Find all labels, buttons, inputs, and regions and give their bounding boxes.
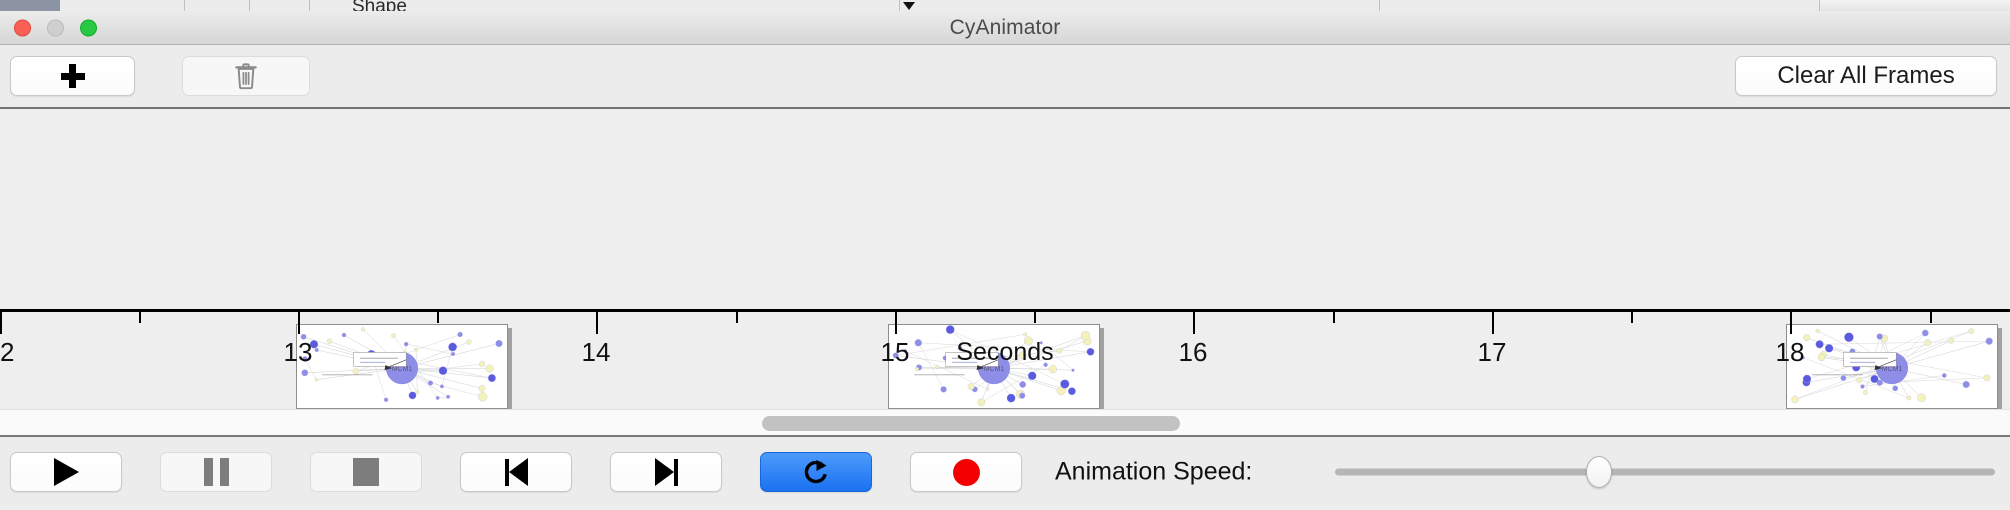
- background-segment: [1380, 0, 1820, 11]
- loop-button[interactable]: [760, 452, 872, 492]
- animation-speed-label: Animation Speed:: [1055, 458, 1252, 487]
- stop-icon: [353, 458, 379, 486]
- axis-tick-label: 13: [284, 337, 313, 368]
- background-caret-icon: [903, 2, 915, 10]
- axis-tick-major: [1790, 312, 1792, 334]
- timeline-frame-thumbnail[interactable]: MCM1: [1786, 324, 1998, 409]
- transport-bar: Animation Speed:: [0, 437, 2010, 507]
- axis-tick-label: 15: [881, 337, 910, 368]
- axis-tick-label: 18: [1776, 337, 1805, 368]
- skip-end-button[interactable]: [610, 452, 722, 492]
- delete-frame-button[interactable]: [182, 56, 310, 96]
- slider-track: [1335, 469, 1995, 476]
- axis-tick-major: [596, 312, 598, 334]
- svg-text:MCM1: MCM1: [984, 366, 1005, 373]
- axis-tick-minor: [1034, 312, 1036, 323]
- axis-tick-label: 14: [582, 337, 611, 368]
- play-button[interactable]: [10, 452, 122, 492]
- background-segment: [60, 0, 185, 11]
- axis-tick-major: [0, 312, 2, 334]
- axis-tick-minor: [1930, 312, 1932, 323]
- window-titlebar: CyAnimator: [0, 11, 2010, 45]
- clear-all-frames-button[interactable]: Clear All Frames: [1735, 56, 1997, 96]
- animation-speed-slider[interactable]: [1335, 457, 1995, 487]
- axis-tick-major: [1193, 312, 1195, 334]
- axis-tick-label: 16: [1179, 337, 1208, 368]
- axis-tick-major: [1492, 312, 1494, 334]
- skip-forward-icon: [655, 458, 678, 486]
- add-frame-button[interactable]: [10, 56, 135, 96]
- axis-title: Seconds: [956, 338, 1053, 367]
- play-icon: [54, 458, 79, 486]
- pause-button[interactable]: [160, 452, 272, 492]
- timeline-panel[interactable]: MCM1 MCM1 MCM1 12131415161718 Seconds: [0, 109, 2010, 409]
- background-segment: [250, 0, 310, 11]
- cyanimator-window: CyAnimator Clear All Frames MCM1: [0, 11, 2010, 510]
- slider-thumb[interactable]: [1586, 456, 1612, 488]
- axis-tick-minor: [1333, 312, 1335, 323]
- timeline-axis: [0, 309, 2010, 312]
- loop-icon: [801, 457, 831, 487]
- axis-tick-minor: [736, 312, 738, 323]
- trash-icon: [233, 62, 259, 90]
- timeline-frame-thumbnail[interactable]: MCM1: [296, 324, 508, 409]
- background-segment: [185, 0, 250, 11]
- background-dark-segment: [0, 0, 60, 11]
- pause-icon: [204, 458, 229, 486]
- axis-tick-major: [298, 312, 300, 334]
- plus-icon: [61, 64, 85, 88]
- axis-tick-label: 12: [0, 337, 14, 368]
- svg-text:MCM1: MCM1: [392, 366, 413, 373]
- window-title: CyAnimator: [0, 16, 2010, 40]
- svg-text:MCM1: MCM1: [1882, 366, 1903, 373]
- axis-tick-label: 17: [1478, 337, 1507, 368]
- background-segment: [900, 0, 1380, 11]
- axis-tick-minor: [139, 312, 141, 323]
- skip-back-icon: [505, 458, 528, 486]
- scrollbar-thumb[interactable]: [762, 416, 1180, 431]
- frame-toolbar: Clear All Frames: [0, 45, 2010, 109]
- axis-tick-minor: [1631, 312, 1633, 323]
- axis-tick-minor: [437, 312, 439, 323]
- record-button[interactable]: [910, 452, 1022, 492]
- record-icon: [953, 459, 980, 486]
- stop-button[interactable]: [310, 452, 422, 492]
- skip-start-button[interactable]: [460, 452, 572, 492]
- timeline-scrollbar[interactable]: [0, 409, 2010, 437]
- axis-tick-major: [895, 312, 897, 334]
